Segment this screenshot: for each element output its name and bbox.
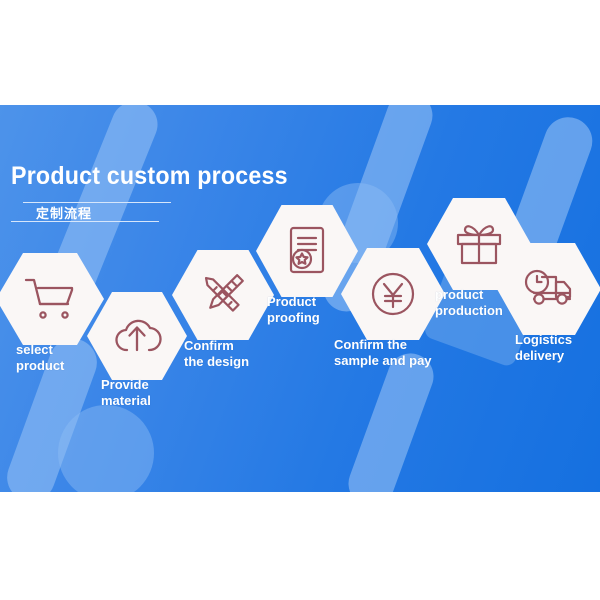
step-label-line2: proofing bbox=[267, 310, 320, 325]
step-label-line2: production bbox=[435, 303, 503, 318]
step-label-line1: Confirm the bbox=[334, 337, 407, 352]
step-label-4: Product proofing bbox=[267, 294, 320, 325]
step-label-line1: Provide bbox=[101, 377, 149, 392]
step-label-line2: product bbox=[16, 358, 64, 373]
step-label-line2: delivery bbox=[515, 348, 564, 363]
step-label-2: Provide material bbox=[101, 377, 151, 408]
step-label-6: product production bbox=[435, 287, 503, 318]
page-subtitle: 定制流程 bbox=[36, 203, 92, 222]
step-label-5: Confirm the sample and pay bbox=[334, 337, 432, 368]
title-block: Product custom process 定制流程 bbox=[11, 162, 309, 222]
shopping-cart-icon bbox=[24, 276, 76, 322]
step-label-line2: material bbox=[101, 393, 151, 408]
step-label-line1: Product bbox=[267, 294, 316, 309]
decor-capsule-bottom-right bbox=[342, 347, 440, 492]
step-label-line1: product bbox=[435, 287, 483, 302]
decor-circle-left bbox=[58, 405, 154, 492]
subtitle-block: 定制流程 bbox=[11, 202, 171, 222]
step-label-line2: the design bbox=[184, 354, 249, 369]
subtitle-rule-bottom bbox=[11, 221, 159, 222]
step-label-1: select product bbox=[16, 342, 64, 373]
step-label-line2: sample and pay bbox=[334, 353, 432, 368]
page-title: Product custom process bbox=[11, 162, 288, 191]
certificate-icon bbox=[284, 225, 330, 277]
gift-box-icon bbox=[453, 221, 505, 267]
step-label-3: Confirm the design bbox=[184, 338, 249, 369]
step-label-7: Logistics delivery bbox=[515, 332, 572, 363]
step-label-line1: select bbox=[16, 342, 53, 357]
infographic-poster: Product custom process 定制流程 select produ… bbox=[0, 0, 600, 600]
delivery-truck-icon bbox=[522, 268, 576, 310]
cloud-upload-icon bbox=[111, 316, 163, 356]
yen-coin-icon bbox=[368, 269, 418, 319]
step-label-line1: Logistics bbox=[515, 332, 572, 347]
pencil-ruler-icon bbox=[197, 269, 249, 321]
step-label-line1: Confirm bbox=[184, 338, 234, 353]
